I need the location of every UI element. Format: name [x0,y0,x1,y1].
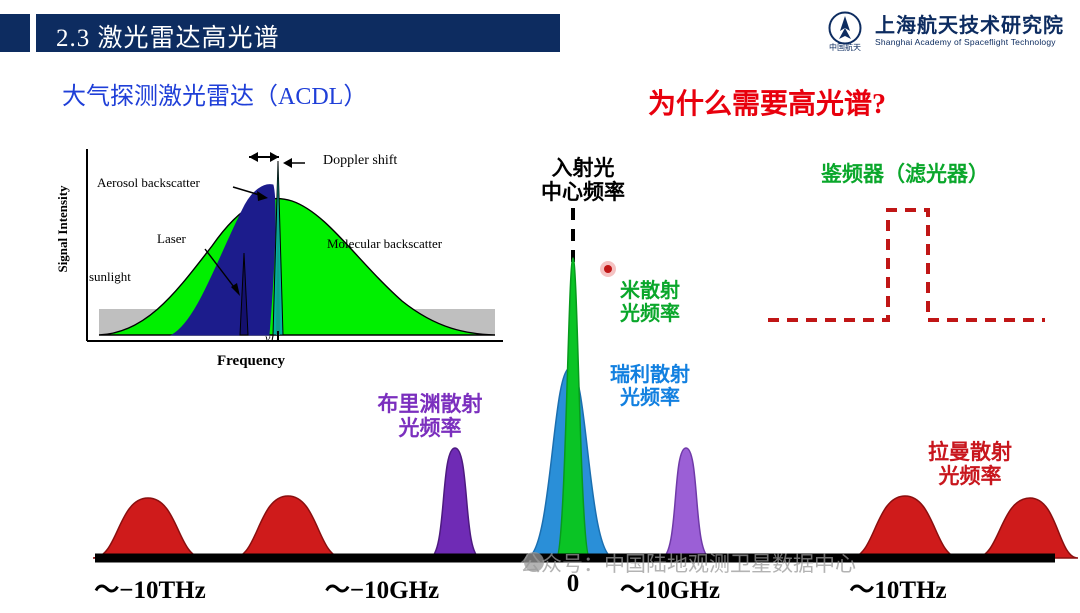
rhetorical-question: 为什么需要高光谱? [648,82,886,122]
mie-marker-dot [600,261,616,277]
casc-crane-logo-icon: 中国航天 [825,11,865,51]
organization-logo: 中国航天 上海航天技术研究院 Shanghai Academy of Space… [825,8,1064,54]
logo-text: 上海航天技术研究院 Shanghai Academy of Spacefligh… [875,15,1064,48]
label-raman-scattering: 拉曼散射 光频率 [890,440,1050,488]
peak-raman-right-outer [975,498,1078,558]
axis-tick-label-1: ～−10GHz [292,570,472,606]
peak-raman-left-inner [233,496,343,558]
label-mie-scattering: 米散射 光频率 [590,280,710,326]
title-accent-bar [30,14,36,52]
peak-raman-right-inner [850,496,960,558]
header-bar: 2.3 激光雷达高光谱 中国航天 上海航天技术研究院 Shanghai Acad… [0,0,1080,62]
label-discriminator-filter: 鉴频器（滤光器） [780,162,1030,186]
peak-brillouin-left [429,448,481,558]
watermark-text: 公众号：中国陆地观测卫星数据中心 [520,548,856,578]
peak-brillouin-right [661,448,711,558]
label-incident-center-frequency: 入射光 中心频率 [508,156,658,204]
label-brillouin-scattering: 布里渊散射 光频率 [340,392,520,440]
page-title: 2.3 激光雷达高光谱 [56,18,280,54]
logo-name-cn: 上海航天技术研究院 [875,15,1064,37]
section-subtitle: 大气探测激光雷达（ACDL） [62,76,367,111]
label-rayleigh-scattering: 瑞利散射 光频率 [580,364,720,410]
axis-tick-label-0: ～−10THz [60,570,240,606]
scattering-spectrum-diagram: 入射光 中心频率 米散射 光频率 瑞利散射 光频率 布里渊散射 光频率 拉曼散射… [0,130,1080,608]
logo-sub-label: 中国航天 [825,42,865,53]
discriminator-filter-curve [768,210,1045,320]
peak-raman-left-outer [93,498,203,558]
logo-name-en: Shanghai Academy of Spaceflight Technolo… [875,37,1064,48]
